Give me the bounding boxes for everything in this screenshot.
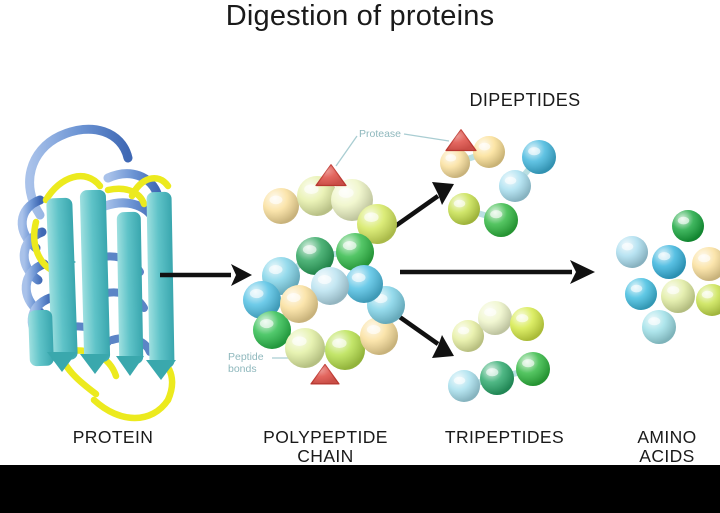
tripeptide-residue: [480, 361, 514, 395]
dipeptides-group: [440, 136, 556, 237]
callout-protease: Protease: [359, 129, 401, 141]
free-amino-acid: [696, 284, 720, 316]
section-label-dipeptides: DIPEPTIDES: [440, 90, 610, 111]
protease-marker: [311, 365, 339, 384]
polypeptide-chain-spheres: [243, 176, 405, 370]
tripeptides-group: [448, 301, 550, 402]
tripeptide-residue: [478, 301, 512, 335]
polypeptide-residue: [280, 285, 318, 323]
dipeptide-1: [440, 136, 505, 178]
tripeptide-residue: [452, 320, 484, 352]
dipeptide-residue: [484, 203, 518, 237]
protease-marker: [446, 130, 476, 151]
dipeptide-residue: [499, 170, 531, 202]
polypeptide-residue: [345, 265, 383, 303]
tripeptide-residue: [510, 307, 544, 341]
dipeptide-residue: [448, 193, 480, 225]
dipeptide-2: [499, 140, 556, 202]
amino-acids-group: [616, 210, 720, 344]
polypeptide-residue: [336, 233, 374, 271]
free-amino-acid: [672, 210, 704, 242]
free-amino-acid: [661, 279, 695, 313]
tripeptide-2: [448, 352, 550, 402]
watermark-bar: alamy Image ID: 2GD6J2H www.alamy.com: [0, 465, 720, 513]
free-amino-acid: [625, 278, 657, 310]
polypeptide-residue: [285, 328, 325, 368]
free-amino-acid: [642, 310, 676, 344]
stage-label-tripeptides: TRIPEPTIDES: [432, 428, 577, 447]
polypeptide-residue: [325, 330, 365, 370]
tripeptide-residue: [516, 352, 550, 386]
free-amino-acid: [692, 247, 720, 281]
dipeptide-residue: [473, 136, 505, 168]
stage-label-protein: PROTEIN: [28, 428, 198, 447]
dipeptide-residue: [522, 140, 556, 174]
stage-label-polypeptide-chain: POLYPEPTIDE CHAIN: [253, 428, 398, 466]
tripeptide-1: [452, 301, 544, 352]
dipeptide-residue: [440, 148, 470, 178]
stage-label-amino-acids: AMINO ACIDS: [620, 428, 714, 466]
protease-marker: [316, 165, 346, 186]
molecules-layer: [0, 0, 720, 465]
callout-peptide-bonds: Peptide bonds: [228, 352, 264, 375]
polypeptide-residue: [263, 188, 299, 224]
tripeptide-residue: [448, 370, 480, 402]
screenshot-root: Digestion of proteins: [0, 0, 720, 513]
diagram-canvas: Digestion of proteins: [0, 0, 720, 465]
free-amino-acid: [616, 236, 648, 268]
free-amino-acid: [652, 245, 686, 279]
